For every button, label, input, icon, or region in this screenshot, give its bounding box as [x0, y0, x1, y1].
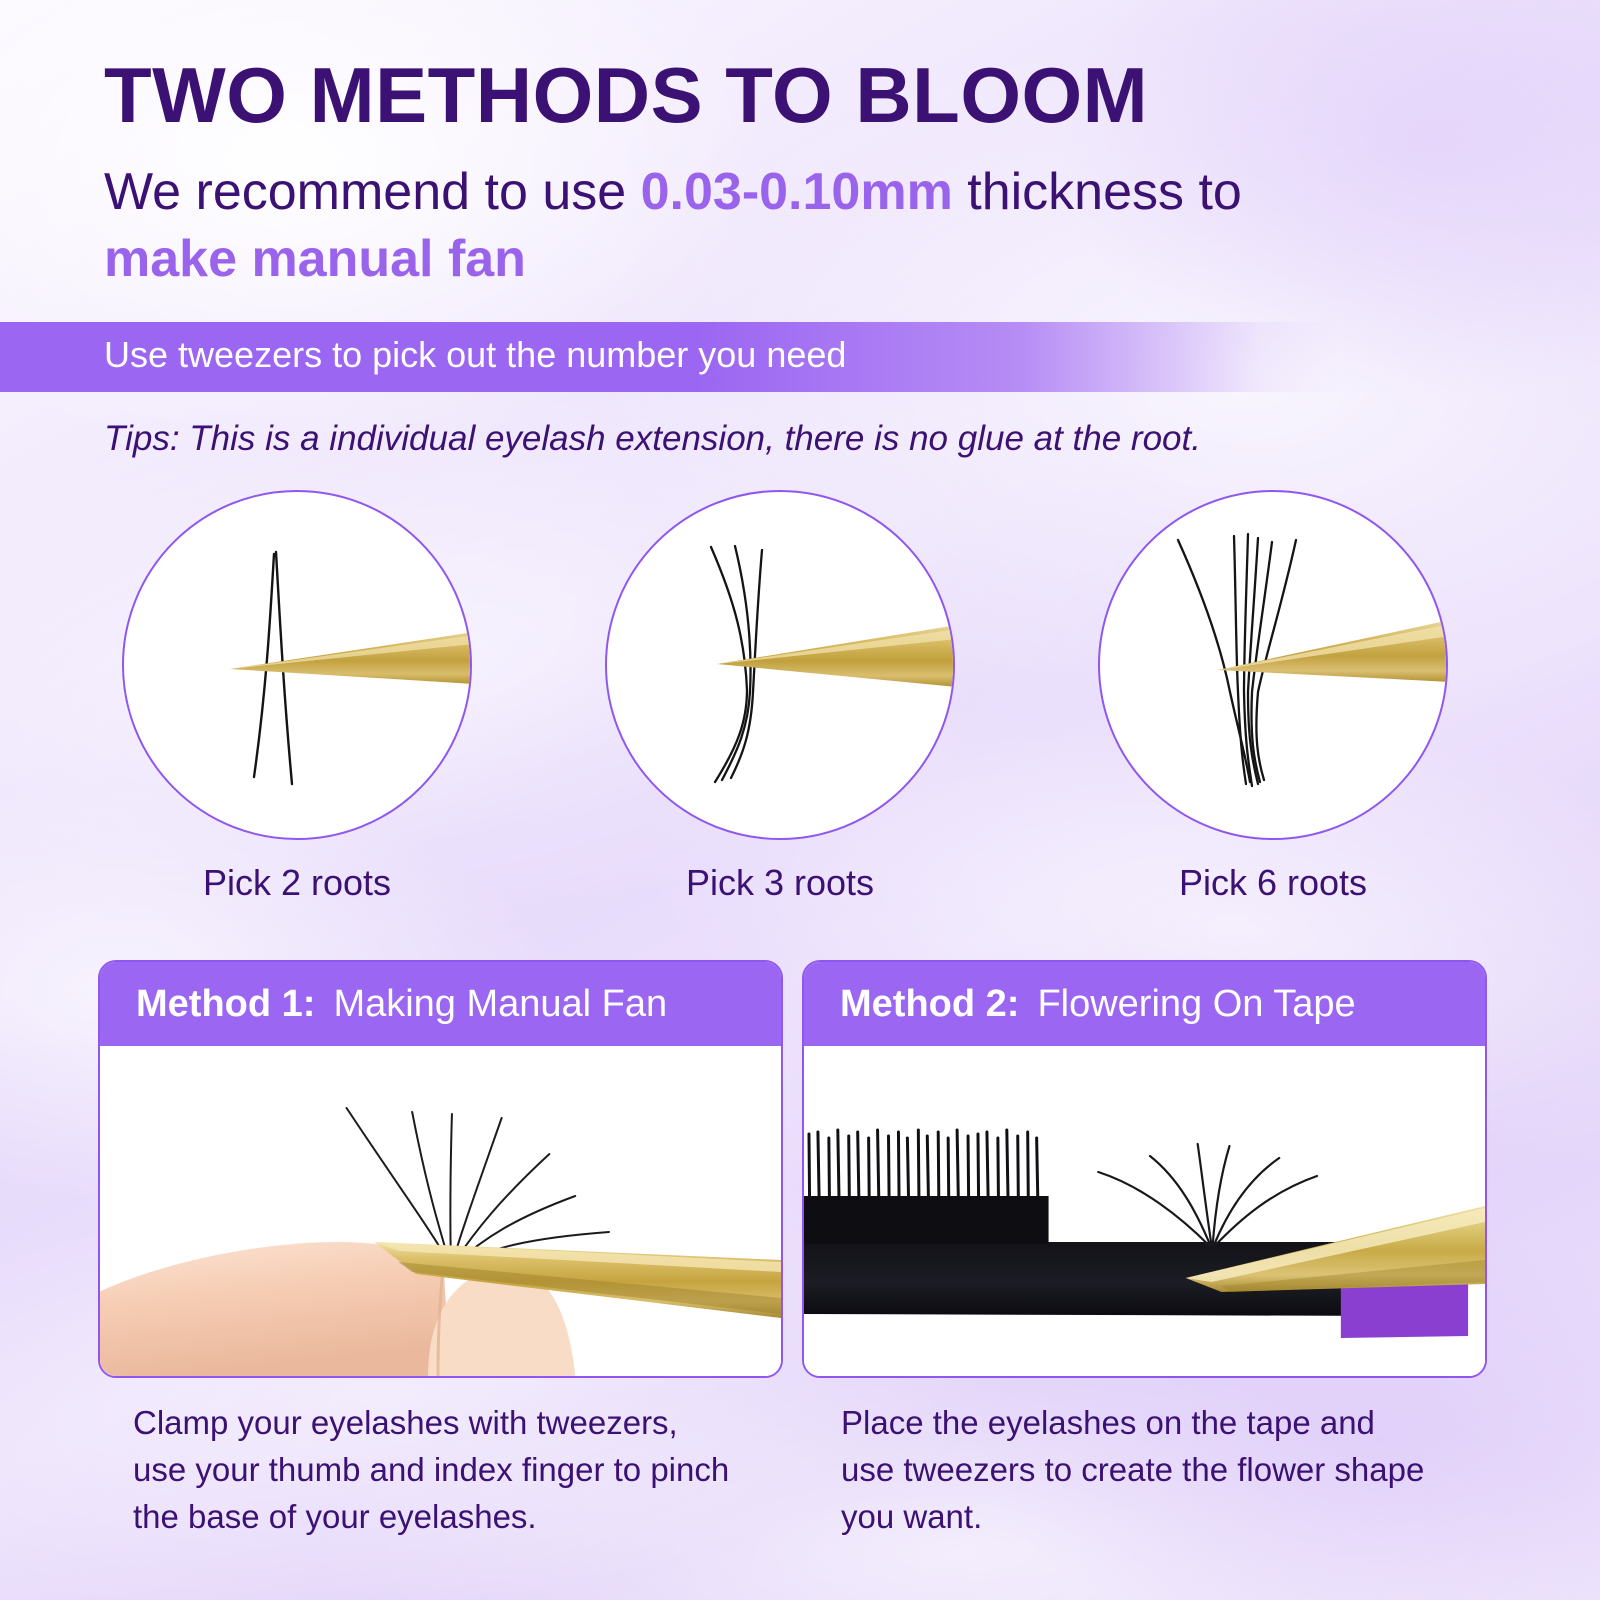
- roots-circle-label: Pick 6 roots: [1098, 862, 1448, 904]
- roots-circle-row: Pick 2 roots: [0, 490, 1600, 930]
- roots-circle-label: Pick 3 roots: [605, 862, 955, 904]
- fingers-pinching-fan-photo: [100, 1046, 781, 1376]
- method-2-card: Method 2: Flowering On Tape: [802, 960, 1487, 1378]
- subtitle-part-2: thickness to: [953, 163, 1242, 221]
- method-2-number: Method 2:: [840, 983, 1019, 1026]
- method-1-caption: Clamp your eyelashes with tweezers, use …: [133, 1400, 773, 1541]
- tips-text: Tips: This is a individual eyelash exten…: [104, 419, 1201, 459]
- method-1-card: Method 1: Making Manual Fan: [98, 960, 783, 1378]
- roots-circle-item: Pick 2 roots: [122, 490, 472, 904]
- roots-circle-item: Pick 6 roots: [1098, 490, 1448, 904]
- thickness-value: 0.03-0.10mm: [641, 163, 953, 221]
- method-1-header: Method 1: Making Manual Fan: [100, 962, 781, 1046]
- method-2-header: Method 2: Flowering On Tape: [804, 962, 1485, 1046]
- instruction-band-text: Use tweezers to pick out the number you …: [104, 334, 846, 376]
- method-1-number: Method 1:: [136, 983, 315, 1026]
- roots-circle-item: Pick 3 roots: [605, 490, 955, 904]
- method-2-title: Flowering On Tape: [1037, 983, 1355, 1026]
- subtitle-part-1: We recommend to use: [104, 163, 641, 221]
- lashes-on-tape-photo: [804, 1046, 1485, 1376]
- page-subtitle: We recommend to use 0.03-0.10mm thicknes…: [104, 162, 1242, 291]
- tweezer-lashes-3-icon: [605, 490, 955, 840]
- infographic-page: TWO METHODS TO BLOOM We recommend to use…: [0, 0, 1600, 1600]
- tweezer-lashes-6-icon: [1098, 490, 1448, 840]
- roots-circle-label: Pick 2 roots: [122, 862, 472, 904]
- page-title: TWO METHODS TO BLOOM: [104, 56, 1148, 134]
- method-2-caption: Place the eyelashes on the tape and use …: [841, 1400, 1491, 1541]
- subtitle-line-2: make manual fan: [104, 229, 1242, 290]
- method-1-title: Making Manual Fan: [333, 983, 667, 1026]
- tweezer-lashes-2-icon: [122, 490, 472, 840]
